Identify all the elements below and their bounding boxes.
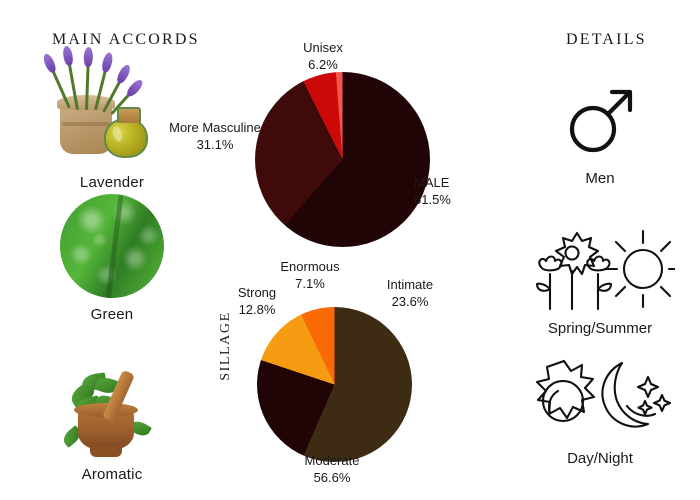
accord-label: Green — [22, 306, 202, 323]
pie-label-male: MALE 61.5% — [414, 175, 504, 208]
pie-label-more-masculine-name: More Masculine — [169, 120, 261, 135]
male-gender-icon — [500, 72, 700, 168]
accord-label: Lavender — [22, 174, 202, 191]
pie-label-strong: Strong 12.8% — [212, 285, 302, 318]
pie-label-intimate-name: Intimate — [387, 277, 433, 292]
gender-pie-slices — [255, 72, 430, 247]
pie-label-intimate: Intimate 23.6% — [355, 277, 465, 310]
flowers-and-sun-icon — [500, 222, 700, 318]
accord-label: Aromatic — [22, 466, 202, 483]
leaf-vein — [105, 194, 125, 298]
pie-label-moderate-pct: 56.6% — [262, 470, 402, 487]
leaf-circle — [60, 194, 164, 298]
pie-label-male-pct: 61.5% — [414, 192, 504, 209]
pie-label-strong-pct: 12.8% — [212, 302, 302, 319]
sillage-pie-slices — [257, 307, 412, 462]
lavender-image — [52, 60, 172, 170]
pie-label-more-masculine-pct: 31.1% — [160, 137, 270, 154]
pie-label-intimate-pct: 23.6% — [355, 294, 465, 311]
pie-label-unisex-name: Unisex — [303, 40, 343, 55]
pie-label-strong-name: Strong — [238, 285, 276, 300]
detail-item-season[interactable]: Spring/Summer — [500, 222, 700, 337]
detail-item-time[interactable]: Day/Night — [500, 352, 700, 467]
accord-item-green[interactable]: Green — [22, 192, 202, 323]
pie-label-unisex-pct: 6.2% — [268, 57, 378, 74]
pie-label-more-masculine: More Masculine 31.1% — [160, 120, 270, 153]
detail-item-men[interactable]: Men — [500, 72, 700, 187]
aromatic-image — [52, 352, 172, 462]
detail-label: Men — [500, 170, 700, 187]
gender-pie-chart[interactable] — [255, 72, 430, 247]
green-leaf-image — [52, 192, 172, 302]
pie-label-moderate: Moderate 56.6% — [262, 453, 402, 486]
infographic-page: MAIN ACCORDS DETAILS Lavender Green — [0, 0, 700, 500]
pie-label-moderate-name: Moderate — [305, 453, 360, 468]
oil-jar-icon — [104, 118, 148, 158]
pie-label-enormous-name: Enormous — [280, 259, 339, 274]
sillage-pie-chart[interactable] — [257, 307, 412, 462]
accord-item-aromatic[interactable]: Aromatic — [22, 352, 202, 483]
pie-label-unisex: Unisex 6.2% — [268, 40, 378, 73]
pie-label-male-name: MALE — [414, 175, 449, 190]
details-heading: DETAILS — [566, 31, 647, 49]
main-accords-heading: MAIN ACCORDS — [52, 31, 200, 49]
sun-and-moon-icon — [500, 352, 700, 448]
detail-label: Spring/Summer — [500, 320, 700, 337]
detail-label: Day/Night — [500, 450, 700, 467]
